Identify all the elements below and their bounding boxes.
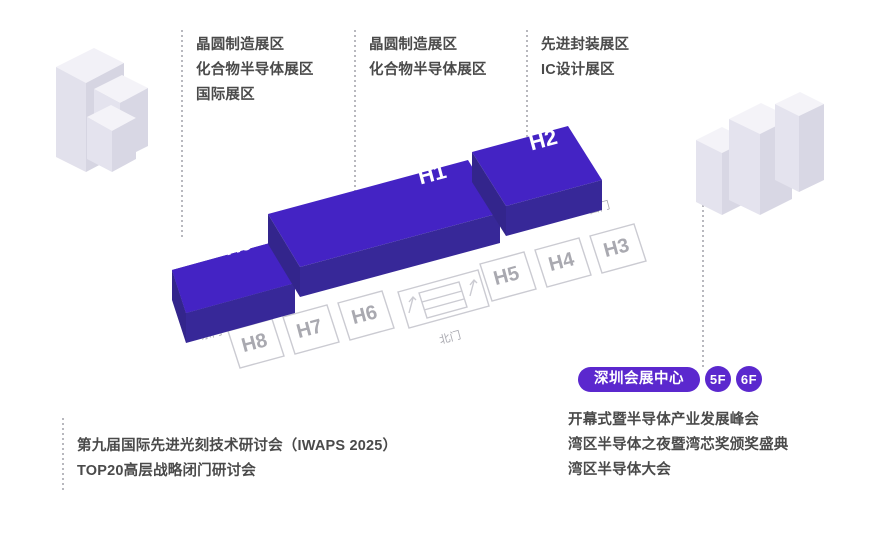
annotation-h1-line-2: 化合物半导体展区: [369, 58, 487, 83]
left-building-cluster: [56, 48, 148, 172]
annotation-h9-line-3: 国际展区: [196, 83, 314, 108]
plain-hall-H4[interactable]: H4: [535, 238, 591, 287]
north-gate-arrow-left: [409, 297, 416, 313]
north-gate-module[interactable]: 北门: [398, 270, 489, 347]
annotation-h9-line-2: 化合物半导体展区: [196, 58, 314, 83]
floor-badge-5f[interactable]: 5F: [705, 366, 731, 392]
annotation-h1-line-1: 晶圆制造展区: [369, 33, 487, 58]
right-building-cluster: [696, 92, 824, 215]
annotation-h9-line-1: 晶圆制造展区: [196, 33, 314, 58]
floor-badge-6f[interactable]: 6F: [736, 366, 762, 392]
annotation-bottom-left-line-2: TOP20高层战略闭门研讨会: [77, 459, 397, 484]
north-gate-label: 北门: [438, 328, 463, 347]
building-left-small: [87, 105, 136, 172]
venue-name-badge[interactable]: 深圳会展中心: [578, 367, 700, 392]
plain-hall-H7-label: H7: [294, 315, 324, 343]
plain-hall-H4-label: H4: [546, 248, 577, 276]
plain-hall-H5[interactable]: H5: [480, 252, 536, 301]
annotation-bottom-right-line-1: 开幕式暨半导体产业发展峰会: [568, 408, 789, 433]
annotation-h9: 晶圆制造展区 化合物半导体展区 国际展区: [196, 33, 314, 108]
building-right-back: [775, 92, 824, 192]
annotation-h2-line-2: IC设计展区: [541, 58, 629, 83]
annotation-bottom-left: 第九届国际先进光刻技术研讨会（IWAPS 2025） TOP20高层战略闭门研讨…: [77, 434, 397, 484]
plain-hall-H5-label: H5: [491, 262, 521, 290]
venue-badge-row: 深圳会展中心 5F 6F: [578, 366, 762, 392]
annotation-h1: 晶圆制造展区 化合物半导体展区: [369, 33, 487, 83]
plain-hall-H6-label: H6: [349, 301, 379, 329]
plain-hall-H3-label: H3: [601, 234, 631, 262]
venue-map-infographic: .glabel{font-family:"Liberation Sans","D…: [0, 0, 880, 539]
annotation-bottom-right: 开幕式暨半导体产业发展峰会 湾区半导体之夜暨湾芯奖颁奖盛典 湾区半导体大会: [568, 408, 789, 483]
plain-hall-H3[interactable]: H3: [590, 224, 646, 273]
highlighted-hall-H1[interactable]: H1: [268, 158, 500, 297]
annotation-bottom-right-line-3: 湾区半导体大会: [568, 458, 789, 483]
plain-hall-H6[interactable]: H6: [338, 291, 394, 340]
annotation-h2: 先进封装展区 IC设计展区: [541, 33, 629, 83]
annotation-bottom-left-line-1: 第九届国际先进光刻技术研讨会（IWAPS 2025）: [77, 434, 397, 459]
plain-hall-H8-label: H8: [239, 329, 269, 357]
annotation-bottom-right-line-2: 湾区半导体之夜暨湾芯奖颁奖盛典: [568, 433, 789, 458]
annotation-h2-line-1: 先进封装展区: [541, 33, 629, 58]
north-gate-arrow-right: [470, 280, 477, 296]
